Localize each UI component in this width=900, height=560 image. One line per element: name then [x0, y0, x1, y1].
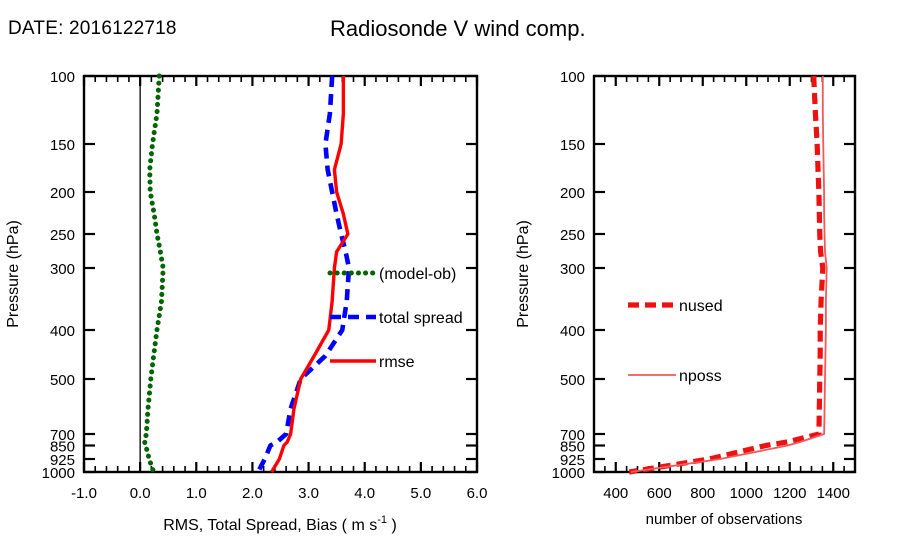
x-tick-label: 1.0 [186, 485, 207, 502]
x-tick-label: 2.0 [242, 485, 263, 502]
legend-label: nused [679, 298, 723, 315]
series-nposs [631, 76, 827, 472]
y-axis-title: Pressure (hPa) [5, 220, 22, 328]
y-tick-label: 200 [50, 185, 75, 202]
y-tick-label: 300 [50, 261, 75, 278]
y-tick-label: 500 [560, 372, 585, 389]
legend-label: (model-ob) [379, 266, 456, 283]
y-tick-label: 100 [50, 69, 75, 86]
x-tick-label: 4.0 [354, 485, 375, 502]
x-tick-label: 800 [690, 485, 715, 502]
left-panel-plot: -1.00.01.02.03.04.05.06.0100150200250300… [0, 0, 500, 560]
x-tick-label: 1200 [773, 485, 806, 502]
x-tick-label: 1400 [817, 485, 850, 502]
y-tick-label: 200 [560, 185, 585, 202]
y-axis-title: Pressure (hPa) [515, 220, 532, 328]
y-tick-label: 150 [560, 137, 585, 154]
x-tick-label: 400 [603, 485, 628, 502]
legend-label: nposs [679, 368, 722, 385]
series-nused [629, 76, 823, 472]
right-panel-plot: 4006008001000120014001001502002503004005… [500, 0, 900, 560]
y-tick-label: 400 [560, 323, 585, 340]
x-tick-label: 3.0 [298, 485, 319, 502]
x-tick-label: 0.0 [130, 485, 151, 502]
y-tick-label: 250 [50, 227, 75, 244]
y-tick-label: 400 [50, 323, 75, 340]
x-tick-label: 6.0 [467, 485, 488, 502]
x-tick-label: 5.0 [410, 485, 431, 502]
chart-page: DATE: 2016122718 Radiosonde V wind comp.… [0, 0, 900, 560]
y-tick-label: 1000 [42, 465, 75, 482]
y-tick-label: 300 [560, 261, 585, 278]
x-tick-label: 600 [647, 485, 672, 502]
x-tick-label: -1.0 [71, 485, 97, 502]
x-axis-title: number of observations [646, 511, 803, 528]
series--model-ob- [145, 76, 164, 472]
y-tick-label: 100 [560, 69, 585, 86]
y-tick-label: 500 [50, 372, 75, 389]
legend-label: rmse [379, 354, 415, 371]
y-tick-label: 1000 [552, 465, 585, 482]
x-axis-title: RMS, Total Spread, Bias ( m s-1 ) [163, 514, 397, 534]
x-tick-label: 1000 [730, 485, 763, 502]
legend-label: total spread [379, 310, 463, 327]
y-tick-label: 150 [50, 137, 75, 154]
y-tick-label: 250 [560, 227, 585, 244]
